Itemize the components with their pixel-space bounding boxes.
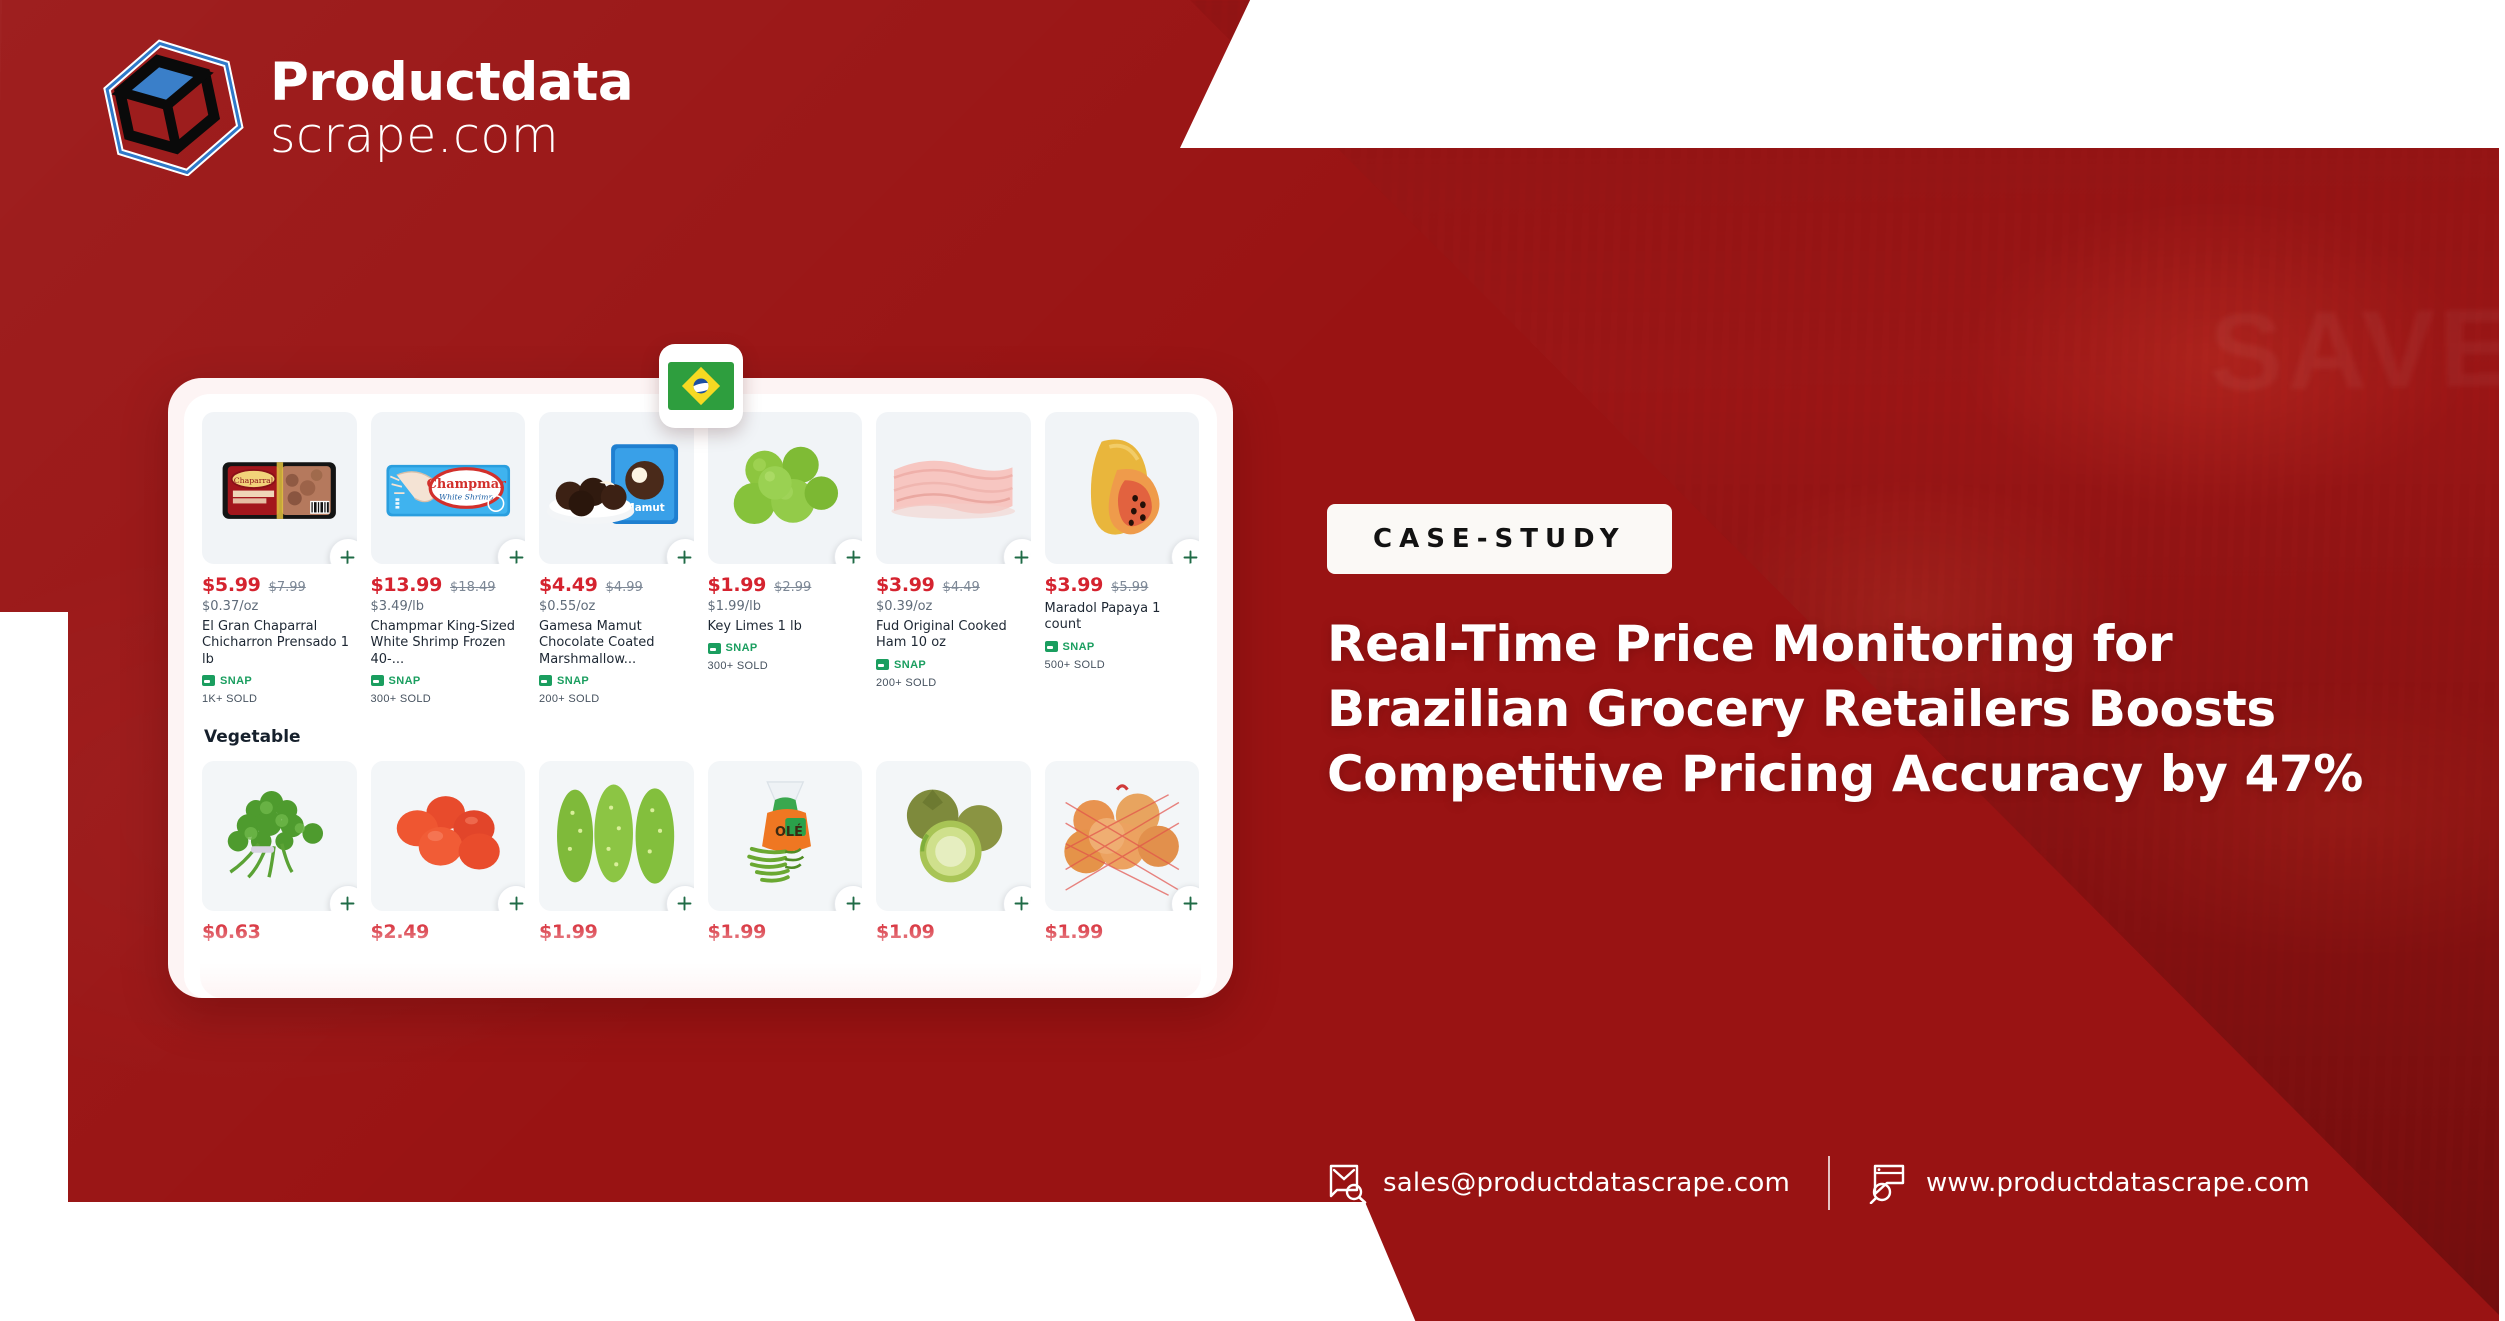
price-row: $0.63: [202, 921, 357, 943]
price-row: $1.99 $2.99: [708, 574, 863, 596]
snap-card-icon: [371, 675, 384, 686]
product-card[interactable]: $1.09: [876, 761, 1031, 943]
snap-card-icon: [202, 675, 215, 686]
snap-label: SNAP: [220, 675, 252, 687]
footer-divider: [1828, 1156, 1830, 1210]
product-price: $4.49: [539, 574, 598, 596]
price-row: $2.49: [371, 921, 526, 943]
price-row: $1.09: [876, 921, 1031, 943]
key-limes-icon: [708, 412, 863, 564]
chocolate-marshmallow-cookies-icon: Mamut: [539, 412, 694, 564]
snap-badge: SNAP: [876, 659, 1031, 671]
snap-card-icon: [1045, 641, 1058, 652]
grocery-app-screenshot: Chaparral: [184, 394, 1217, 998]
snap-badge: SNAP: [371, 675, 526, 687]
product-card[interactable]: $3.99 $4.49 $0.39/oz Fud Original Cooked…: [876, 412, 1031, 705]
white-band-bottom: [0, 1202, 1420, 1321]
product-price: $1.99: [539, 921, 598, 943]
snap-badge: SNAP: [1045, 641, 1200, 653]
snap-badge: SNAP: [708, 642, 863, 654]
product-thumbnail: [539, 761, 694, 911]
product-price: $5.99: [202, 574, 261, 596]
product-card[interactable]: OLÉ: [708, 761, 863, 943]
product-card[interactable]: $0.63: [202, 761, 357, 943]
product-meta: $3.99 $4.49 $0.39/oz Fud Original Cooked…: [876, 564, 1031, 689]
product-price: $1.09: [876, 921, 935, 943]
product-price: $2.49: [371, 921, 430, 943]
snap-card-icon: [876, 659, 889, 670]
product-title: Fud Original Cooked Ham 10 oz: [876, 619, 1031, 652]
price-row: $3.99 $5.99: [1045, 574, 1200, 596]
product-row-vegetables: $0.63: [184, 747, 1217, 943]
product-card[interactable]: $1.99 $2.99 $1.99/lb Key Limes 1 lb SNAP…: [708, 412, 863, 705]
product-price: $3.99: [1045, 574, 1104, 596]
svg-text:White Shrimp: White Shrimp: [439, 493, 493, 502]
product-unit-price: $3.49/lb: [371, 599, 526, 614]
price-row: $13.99 $18.49: [371, 574, 526, 596]
product-title: Maradol Papaya 1 count: [1045, 601, 1200, 634]
price-row: $1.99: [708, 921, 863, 943]
product-card[interactable]: $2.49: [371, 761, 526, 943]
case-study-badge-label: CASE-STUDY: [1373, 524, 1626, 554]
footer-website-text: www.productdatascrape.com: [1926, 1168, 2310, 1198]
browser-search-icon: [1868, 1162, 1910, 1204]
page-title: Real-Time Price Monitoring for Brazilian…: [1327, 612, 2387, 807]
price-row: $1.99: [1045, 921, 1200, 943]
product-meta: $4.49 $4.99 $0.55/oz Gamesa Mamut Chocol…: [539, 564, 694, 705]
product-meta: $1.99 $2.99 $1.99/lb Key Limes 1 lb SNAP…: [708, 564, 863, 672]
product-unit-price: $0.55/oz: [539, 599, 694, 614]
product-sold-count: 200+ SOLD: [876, 677, 1031, 689]
product-thumbnail: Chaparral: [202, 412, 357, 564]
product-thumbnail: [876, 412, 1031, 564]
product-card[interactable]: $1.99: [539, 761, 694, 943]
product-card[interactable]: Mamut: [539, 412, 694, 705]
product-card[interactable]: $3.99 $5.99 Maradol Papaya 1 count SNAP …: [1045, 412, 1200, 705]
product-title: Champmar King-Sized White Shrimp Frozen …: [371, 619, 526, 668]
product-price: $1.99: [708, 921, 767, 943]
product-thumbnail: [1045, 412, 1200, 564]
case-study-banner: SAVE Productdata scrape.com: [0, 0, 2505, 1321]
product-title: Gamesa Mamut Chocolate Coated Marshmallo…: [539, 619, 694, 668]
price-row: $1.99: [539, 921, 694, 943]
product-price: $1.99: [1045, 921, 1104, 943]
product-price: $13.99: [371, 574, 443, 596]
brand-logo[interactable]: Productdata scrape.com: [98, 36, 633, 176]
product-meta: $1.99: [539, 911, 694, 943]
brand-name-secondary: scrape.com: [270, 111, 633, 160]
product-thumbnail: OLÉ: [708, 761, 863, 911]
brand-name-primary: Productdata: [270, 56, 633, 109]
product-card[interactable]: Champmar White Shrimp $13.99 $18.49: [371, 412, 526, 705]
maradol-papaya-icon: [1045, 412, 1200, 564]
product-card[interactable]: $1.99: [1045, 761, 1200, 943]
product-meta: $3.99 $5.99 Maradol Papaya 1 count SNAP …: [1045, 564, 1200, 671]
product-price: $3.99: [876, 574, 935, 596]
product-row-groceries: Chaparral: [184, 394, 1217, 705]
case-study-badge: CASE-STUDY: [1327, 504, 1672, 574]
product-unit-price: $0.39/oz: [876, 599, 1031, 614]
nopal-cactus-paddles-icon: [539, 761, 694, 911]
product-thumbnail: [371, 761, 526, 911]
brand-logo-text: Productdata scrape.com: [270, 52, 633, 160]
product-original-price: $5.99: [1111, 580, 1148, 595]
footer-email-item[interactable]: sales@productdatascrape.com: [1327, 1162, 1790, 1204]
price-row: $5.99 $7.99: [202, 574, 357, 596]
background-save-sign: SAVE: [2208, 298, 2491, 483]
snap-card-icon: [539, 675, 552, 686]
product-meta: $1.09: [876, 911, 1031, 943]
product-price: $0.63: [202, 921, 261, 943]
product-original-price: $2.99: [774, 580, 811, 595]
bagged-onions-icon: [1045, 761, 1200, 911]
country-flag-badge: [659, 344, 743, 428]
product-sold-count: 300+ SOLD: [708, 660, 863, 672]
product-original-price: $7.99: [269, 580, 306, 595]
snap-badge: SNAP: [539, 675, 694, 687]
cooked-ham-slices-icon: [876, 412, 1031, 564]
product-unit-price: $1.99/lb: [708, 599, 863, 614]
white-notch-top-right: [1180, 0, 2505, 148]
product-sold-count: 200+ SOLD: [539, 693, 694, 705]
hexagon-cube-icon: [98, 36, 248, 176]
tomatillos-icon: [876, 761, 1031, 911]
product-original-price: $4.99: [606, 580, 643, 595]
product-original-price: $18.49: [450, 580, 496, 595]
product-meta: $2.49: [371, 911, 526, 943]
product-thumbnail: [1045, 761, 1200, 911]
product-thumbnail: Champmar White Shrimp: [371, 412, 526, 564]
product-thumbnail: [202, 761, 357, 911]
product-meta: $5.99 $7.99 $0.37/oz El Gran Chaparral C…: [202, 564, 357, 705]
product-title: Key Limes 1 lb: [708, 619, 863, 635]
product-sold-count: 1K+ SOLD: [202, 693, 357, 705]
snap-card-icon: [708, 643, 721, 654]
product-meta: $1.99: [708, 911, 863, 943]
mail-search-icon: [1327, 1162, 1367, 1204]
price-row: $3.99 $4.49: [876, 574, 1031, 596]
snap-label: SNAP: [726, 642, 758, 654]
product-original-price: $4.49: [943, 580, 980, 595]
product-meta: $1.99: [1045, 911, 1200, 943]
category-section-title: Vegetable: [184, 705, 1217, 747]
product-unit-price: $0.37/oz: [202, 599, 357, 614]
chicharron-prensado-package-icon: Chaparral: [202, 412, 357, 564]
svg-text:Champmar: Champmar: [426, 477, 505, 492]
white-edge-right: [2499, 0, 2505, 1321]
cilantro-bunch-icon: [202, 761, 357, 911]
flag-globe-shape: [693, 379, 708, 394]
product-meta: $0.63: [202, 911, 357, 943]
snap-label: SNAP: [557, 675, 589, 687]
product-thumbnail: Mamut: [539, 412, 694, 564]
product-thumbnail: [876, 761, 1031, 911]
footer-email-text: sales@productdatascrape.com: [1383, 1168, 1790, 1198]
svg-text:Chaparral: Chaparral: [234, 476, 274, 485]
snap-label: SNAP: [389, 675, 421, 687]
svg-text:OLÉ: OLÉ: [774, 824, 802, 840]
roma-tomatoes-icon: [371, 761, 526, 911]
footer-website-item[interactable]: www.productdatascrape.com: [1868, 1162, 2310, 1204]
snap-label: SNAP: [1063, 641, 1095, 653]
product-title: El Gran Chaparral Chicharron Prensado 1 …: [202, 619, 357, 668]
product-sold-count: 300+ SOLD: [371, 693, 526, 705]
product-price: $1.99: [708, 574, 767, 596]
product-screenshot-panel: Chaparral: [168, 378, 1233, 998]
footer-contact: sales@productdatascrape.com www.productd…: [1327, 1156, 2310, 1210]
snap-label: SNAP: [894, 659, 926, 671]
bagged-green-chiles-icon: OLÉ: [708, 761, 863, 911]
brazil-flag-icon: [668, 362, 734, 410]
product-thumbnail: [708, 412, 863, 564]
product-sold-count: 500+ SOLD: [1045, 659, 1200, 671]
product-meta: $13.99 $18.49 $3.49/lb Champmar King-Siz…: [371, 564, 526, 705]
snap-badge: SNAP: [202, 675, 357, 687]
product-card[interactable]: Chaparral: [202, 412, 357, 705]
champmar-white-shrimp-box-icon: Champmar White Shrimp: [371, 412, 526, 564]
price-row: $4.49 $4.99: [539, 574, 694, 596]
